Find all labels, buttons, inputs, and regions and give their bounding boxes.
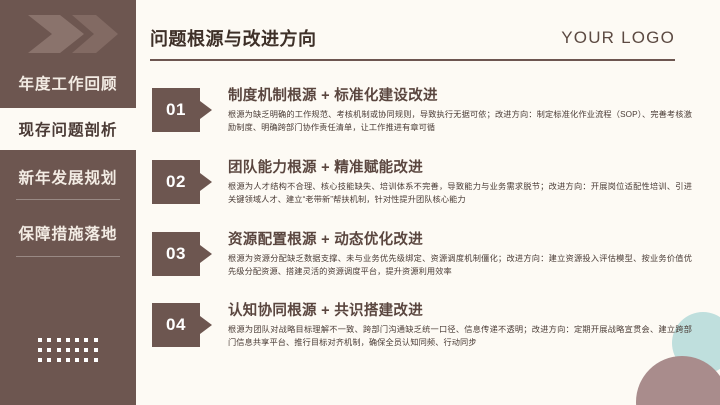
item-number-badge: 03 — [152, 232, 212, 276]
item-title: 认知协同根源 + 共识搭建改进 — [228, 299, 692, 320]
item-body: 制度机制根源 + 标准化建设改进 根源为缺乏明确的工作规范、考核机制或协同规则，… — [228, 84, 692, 135]
item-number-badge: 01 — [152, 88, 212, 132]
sidebar-item-3[interactable]: 保障措施落地 — [0, 212, 136, 254]
item-number: 02 — [152, 160, 200, 204]
item-description: 根源为人才结构不合理、核心技能缺失、培训体系不完善，导致能力与业务需求脱节；改进… — [228, 180, 692, 207]
sidebar-item-label: 保障措施落地 — [18, 222, 117, 244]
sidebar-divider-0 — [16, 199, 120, 200]
item-description: 根源为资源分配缺乏数据支撑、未与业务优先级绑定、资源调度机制僵化；改进方向：建立… — [228, 252, 692, 279]
page-title: 问题根源与改进方向 — [150, 25, 317, 51]
logo-text: YOUR LOGO — [561, 28, 675, 48]
header: 问题根源与改进方向 YOUR LOGO — [150, 25, 675, 59]
dot-grid-decoration — [38, 338, 100, 362]
sidebar-item-0[interactable]: 年度工作回顾 — [0, 62, 136, 104]
item-description: 根源为团队对战略目标理解不一致、跨部门沟通缺乏统一口径、信息传递不透明；改进方向… — [228, 323, 692, 350]
sidebar-item-label: 现存问题剖析 — [18, 118, 117, 140]
double-chevron-right-icon — [26, 11, 118, 57]
decorative-circle-mauve — [636, 356, 720, 405]
item-number: 04 — [152, 303, 200, 347]
item-number-badge: 04 — [152, 303, 212, 347]
item-body: 资源配置根源 + 动态优化改进 根源为资源分配缺乏数据支撑、未与业务优先级绑定、… — [228, 228, 692, 279]
sidebar-item-label: 年度工作回顾 — [18, 72, 117, 94]
content-item: 04 认知协同根源 + 共识搭建改进 根源为团队对战略目标理解不一致、跨部门沟通… — [152, 299, 692, 361]
sidebar: 年度工作回顾 现存问题剖析 新年发展规划 保障措施落地 — [0, 0, 136, 405]
content-item: 02 团队能力根源 + 精准赋能改进 根源为人才结构不合理、核心技能缺失、培训体… — [152, 156, 692, 218]
header-divider — [150, 59, 675, 61]
item-description: 根源为缺乏明确的工作规范、考核机制或协同规则，导致执行无据可依；改进方向：制定标… — [228, 108, 692, 135]
sidebar-item-1[interactable]: 现存问题剖析 — [0, 108, 136, 150]
content-item: 01 制度机制根源 + 标准化建设改进 根源为缺乏明确的工作规范、考核机制或协同… — [152, 84, 692, 146]
item-number: 03 — [152, 232, 200, 276]
item-number-badge: 02 — [152, 160, 212, 204]
sidebar-divider-1 — [16, 256, 120, 257]
item-body: 认知协同根源 + 共识搭建改进 根源为团队对战略目标理解不一致、跨部门沟通缺乏统… — [228, 299, 692, 350]
item-title: 制度机制根源 + 标准化建设改进 — [228, 84, 692, 105]
slide-canvas: 年度工作回顾 现存问题剖析 新年发展规划 保障措施落地 问题根源与改进方向 YO… — [0, 0, 720, 405]
content-item: 03 资源配置根源 + 动态优化改进 根源为资源分配缺乏数据支撑、未与业务优先级… — [152, 228, 692, 290]
item-body: 团队能力根源 + 精准赋能改进 根源为人才结构不合理、核心技能缺失、培训体系不完… — [228, 156, 692, 207]
sidebar-item-label: 新年发展规划 — [18, 166, 117, 188]
item-title: 资源配置根源 + 动态优化改进 — [228, 228, 692, 249]
item-number: 01 — [152, 88, 200, 132]
sidebar-item-2[interactable]: 新年发展规划 — [0, 156, 136, 198]
item-title: 团队能力根源 + 精准赋能改进 — [228, 156, 692, 177]
